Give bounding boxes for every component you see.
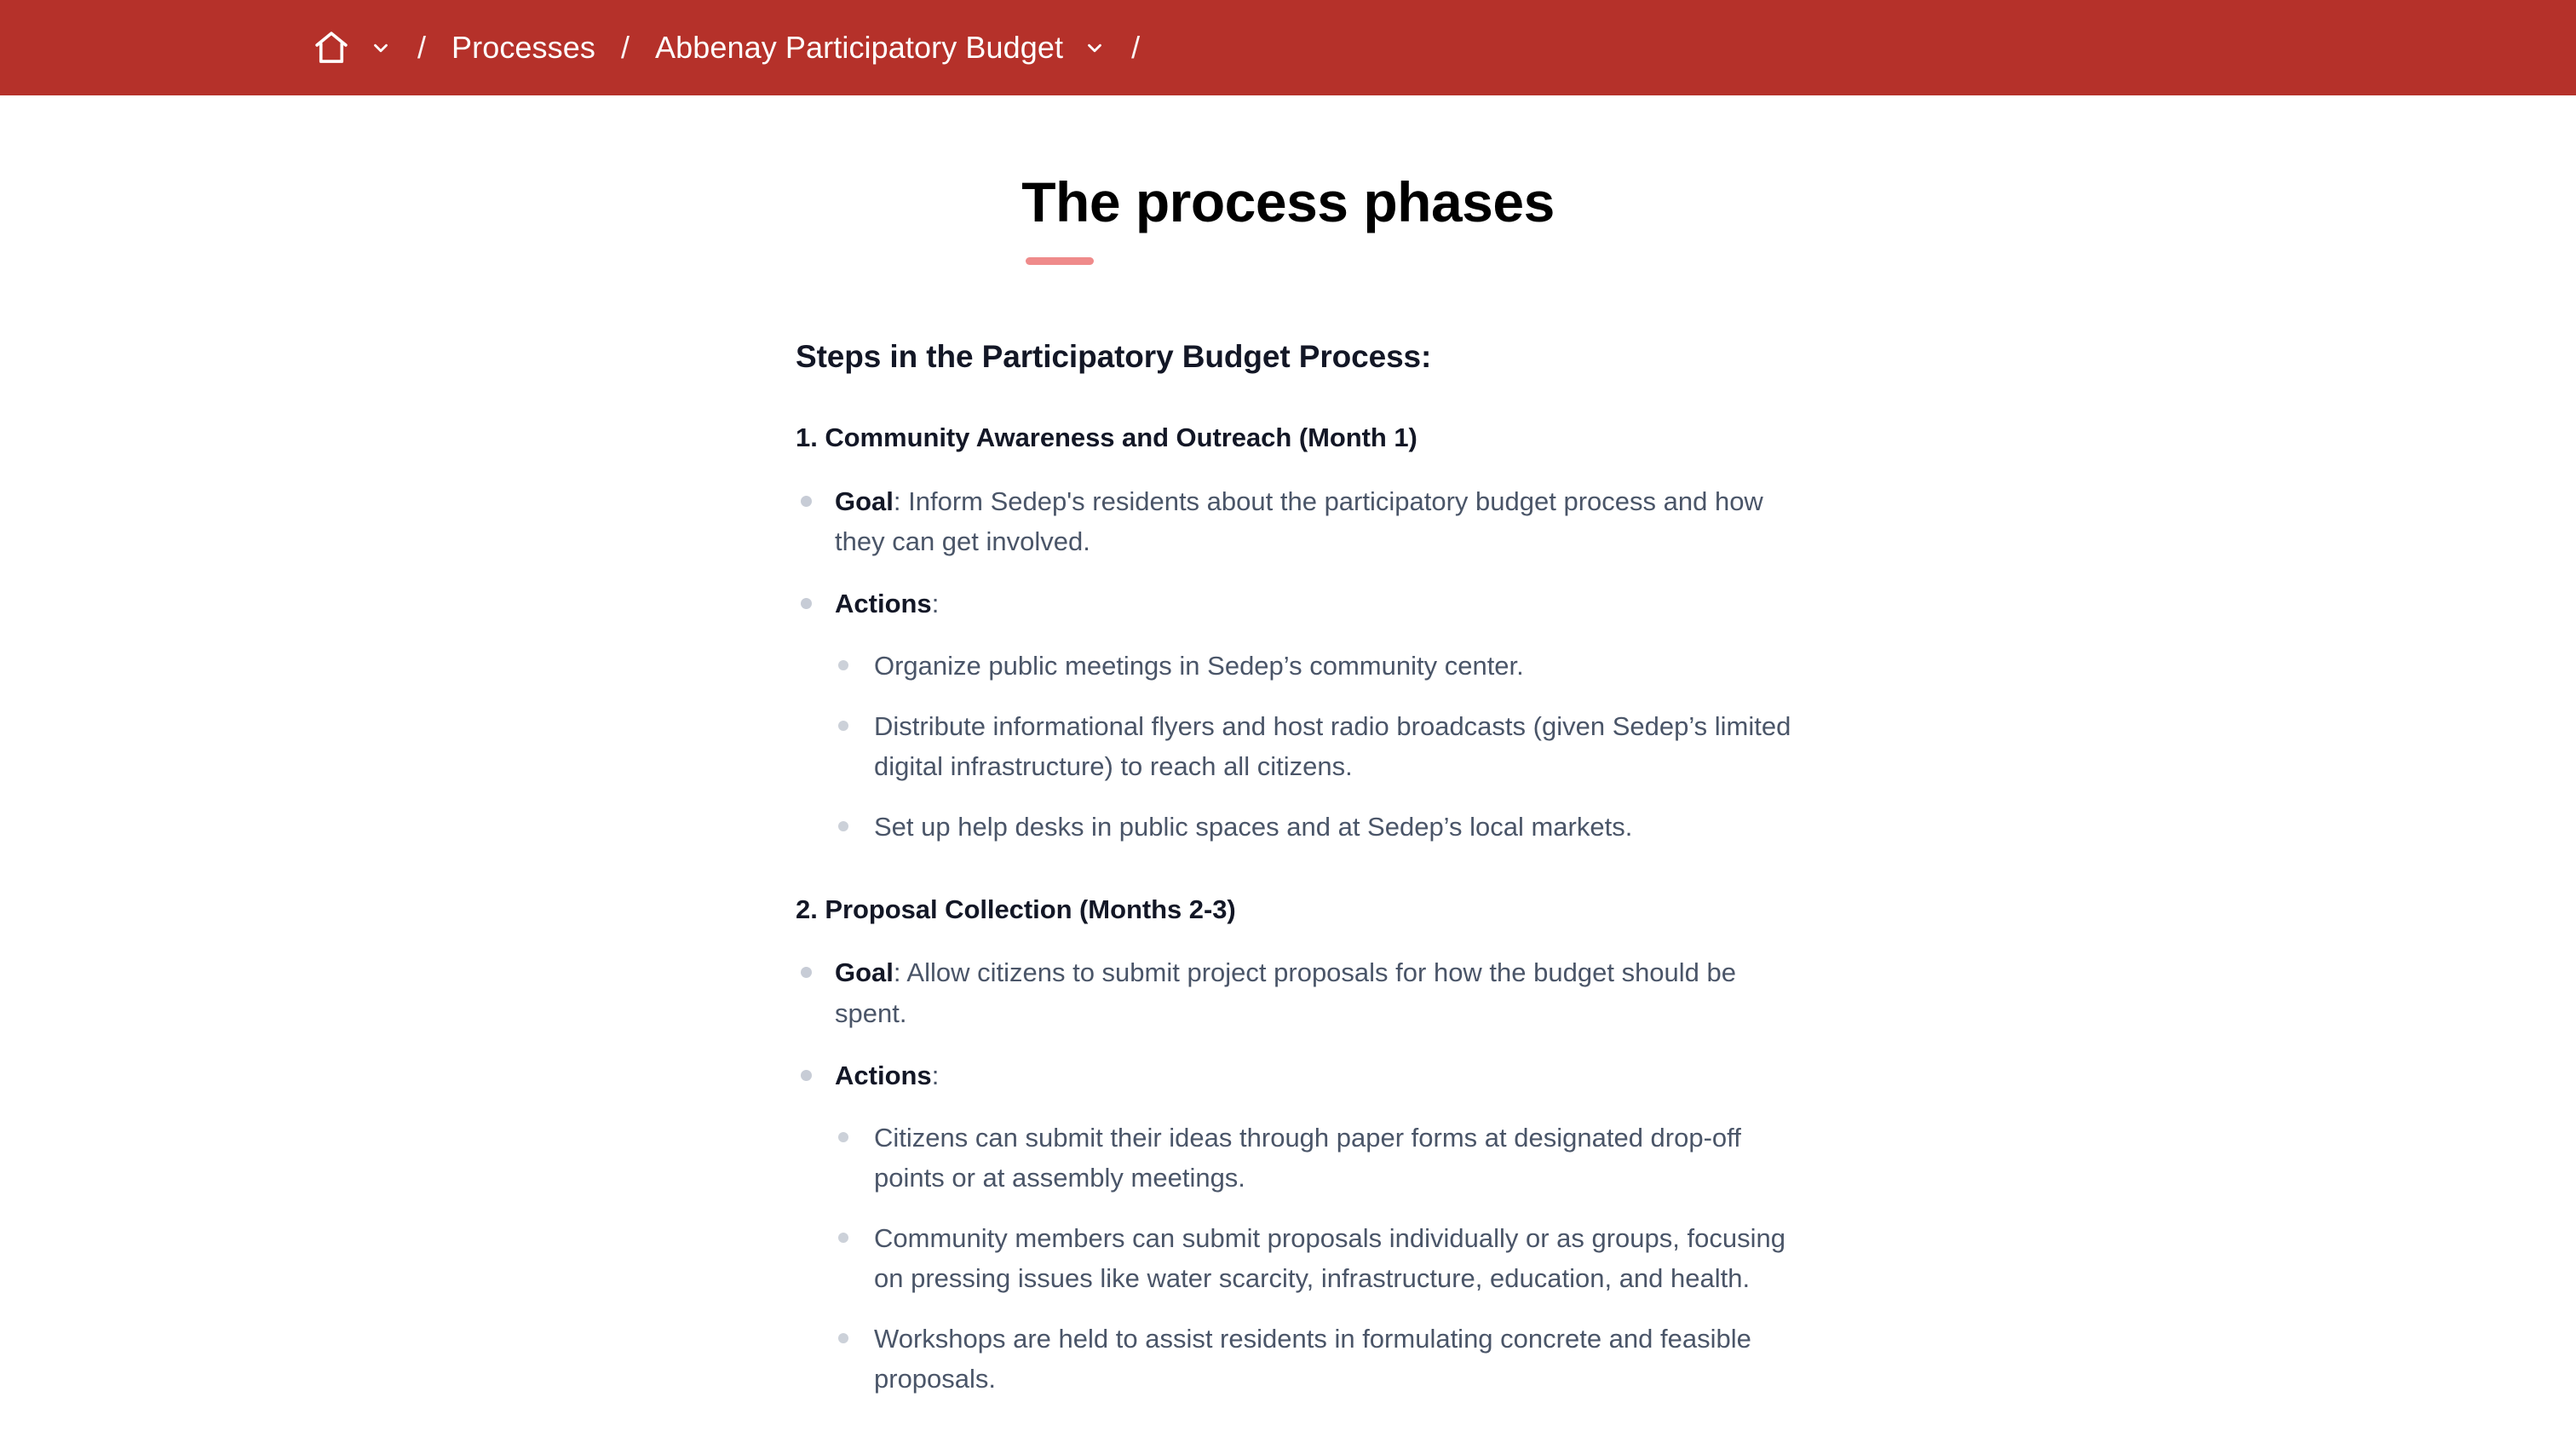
step-title-1: 1. Community Awareness and Outreach (Mon… <box>796 420 1801 456</box>
step-1-actions: Actions: Organize public meetings in Sed… <box>796 584 1801 848</box>
goal-text: : Allow citizens to submit project propo… <box>835 957 1736 1027</box>
breadcrumb-chevron-down-icon[interactable] <box>1084 37 1106 59</box>
page-title-block: The process phases <box>0 170 2576 235</box>
step-2-bullets: Goal: Allow citizens to submit project p… <box>796 952 1801 1399</box>
step-2-action-list: Citizens can submit their ideas through … <box>835 1118 1801 1400</box>
list-item: Community members can submit proposals i… <box>835 1218 1801 1298</box>
page-body: The process phases Steps in the Particip… <box>0 95 2576 1443</box>
list-item: Workshops are held to assist residents i… <box>835 1319 1801 1399</box>
actions-colon: : <box>932 589 940 618</box>
process-phases-content: Steps in the Participatory Budget Proces… <box>796 265 1801 1443</box>
breadcrumb-separator-1: / <box>392 32 451 63</box>
step-1-action-list: Organize public meetings in Sedep’s comm… <box>835 646 1801 847</box>
home-chevron-down-icon[interactable] <box>370 37 392 59</box>
page-title-accent-rule <box>1026 257 1094 265</box>
breadcrumb-home[interactable] <box>312 28 392 67</box>
list-item: Distribute informational flyers and host… <box>835 706 1801 786</box>
list-item: Citizens can submit their ideas through … <box>835 1118 1801 1198</box>
list-item: Set up help desks in public spaces and a… <box>835 807 1801 847</box>
breadcrumb-separator-2: / <box>595 32 655 63</box>
breadcrumb-bar: / Processes / Abbenay Participatory Budg… <box>0 0 2576 95</box>
step-1-goal: Goal: Inform Sedep's residents about the… <box>796 481 1801 561</box>
list-item: Organize public meetings in Sedep’s comm… <box>835 646 1801 686</box>
page-title: The process phases <box>1021 170 1555 235</box>
step-1-bullets: Goal: Inform Sedep's residents about the… <box>796 481 1801 848</box>
breadcrumb-separator-3: / <box>1106 32 1165 63</box>
home-icon[interactable] <box>312 28 351 67</box>
goal-label: Goal <box>835 486 894 516</box>
goal-text: : Inform Sedep's residents about the par… <box>835 486 1763 556</box>
section-heading: Steps in the Participatory Budget Proces… <box>796 336 1801 377</box>
goal-label: Goal <box>835 957 894 987</box>
actions-label: Actions <box>835 589 932 618</box>
page-title-rule-holder <box>0 235 2576 265</box>
breadcrumb-item-processes[interactable]: Processes <box>451 30 595 66</box>
breadcrumb-item-participatory-budget-group[interactable]: Abbenay Participatory Budget <box>655 30 1106 66</box>
breadcrumb-item-abbenay-participatory-budget[interactable]: Abbenay Participatory Budget <box>655 30 1063 66</box>
step-2-goal: Goal: Allow citizens to submit project p… <box>796 952 1801 1032</box>
step-2-actions: Actions: Citizens can submit their ideas… <box>796 1055 1801 1400</box>
actions-label: Actions <box>835 1061 932 1090</box>
actions-colon: : <box>932 1061 940 1090</box>
step-title-2: 2. Proposal Collection (Months 2-3) <box>796 892 1801 928</box>
